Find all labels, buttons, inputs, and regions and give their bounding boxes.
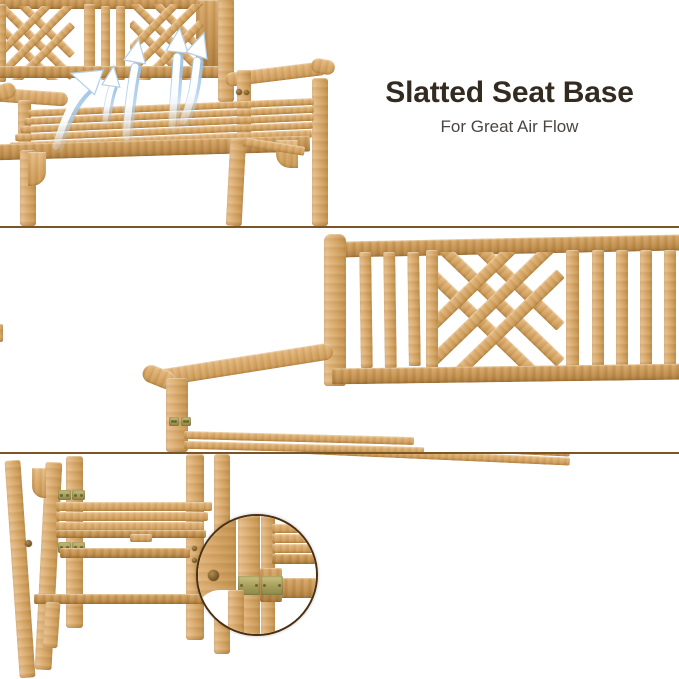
stretcher-rail [34,594,210,604]
hasp-hardware [181,417,191,426]
screw-head [192,546,197,551]
hasp-hardware [72,490,85,500]
bench-seat-photo [0,0,336,226]
armrest [126,340,346,388]
screw-head [244,90,249,95]
feature-panel-slatted-seat-base: Slatted Seat Base For Great Air Flow [0,0,679,226]
feature-text-block-1: Slatted Seat Base For Great Air Flow [347,76,672,137]
seat-underside-slats [270,454,570,468]
bench-backrest-photo [236,228,679,452]
hasp-hardware-magnified [261,576,283,595]
magnified-detail-circle [196,514,318,636]
hasp-hardware [169,417,179,426]
wood-sliver [0,324,3,342]
feature-panel-lattice-design: Lattice Design Looks Trendy and Chic [0,228,679,452]
bench-leg-rear-left [4,460,35,679]
corbel-left [28,152,46,186]
feature-title: Slatted Seat Base [347,76,672,110]
lattice-panel [432,252,572,368]
screw-head [25,540,32,547]
bottom-shelf [56,502,212,532]
screw-head-magnified [208,570,219,581]
product-feature-infographic: Slatted Seat Base For Great Air Flow [0,0,679,679]
feature-subtitle: For Great Air Flow [347,117,672,137]
screw-head [236,89,242,95]
hasp-hardware [58,490,71,500]
bench-frame-photo [0,454,340,679]
feature-panel-stable-built-structure: Stable-Built Structure With Secure Hasp … [0,454,679,679]
